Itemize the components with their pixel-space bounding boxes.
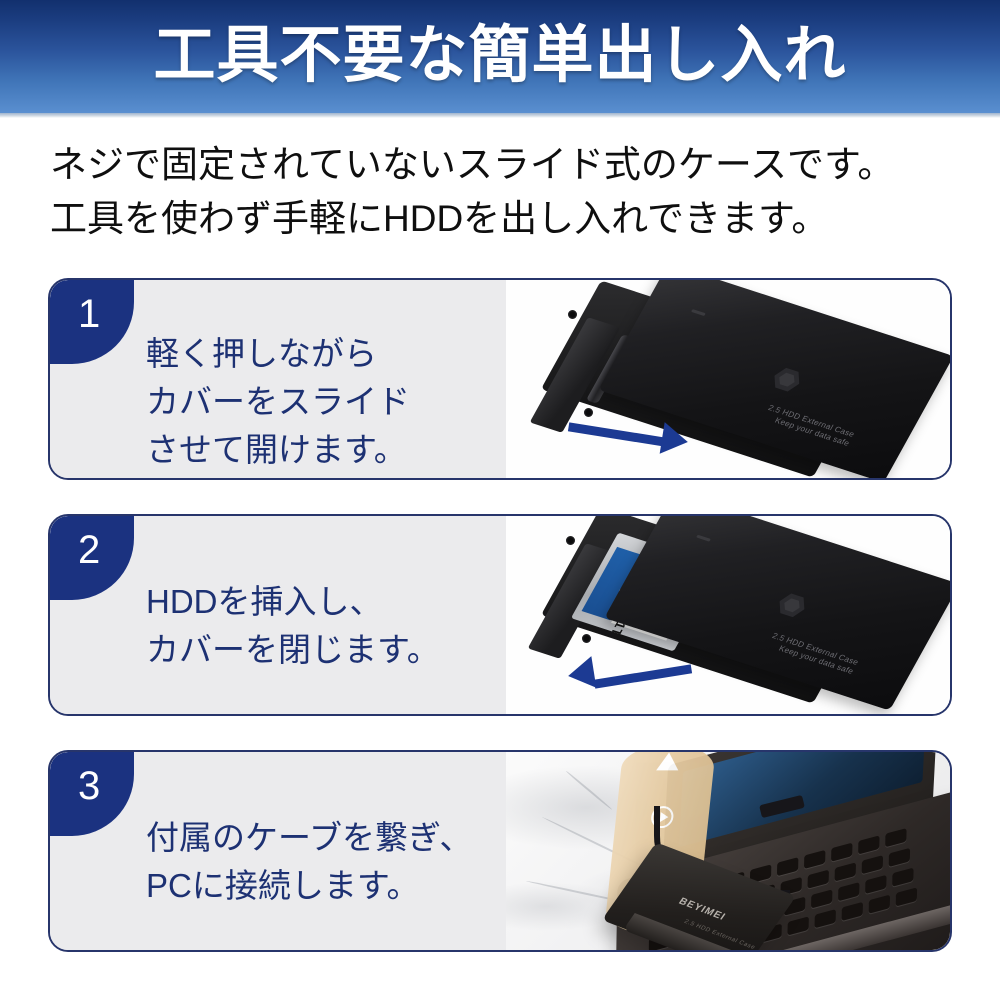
step-2-description: HDDを挿入し、 カバーを閉じます。: [146, 578, 496, 674]
keyboard-key: [814, 909, 835, 928]
tray-screw-top: [568, 310, 577, 319]
step-card-1: 1 軽く押しながら カバーをスライド させて開けます。 2.5 HDD Exte…: [48, 278, 952, 480]
step-3-description: 付属のケーブを繋ぎ、 PCに接続します。: [146, 814, 496, 910]
brand-hex-icon: [769, 365, 806, 394]
step-card-2: 2 HDDを挿入し、 カバーを閉じます。 Western Digital 1TB: [48, 514, 952, 716]
step-3-line-2: PCに接続します。: [146, 862, 496, 910]
keyboard-key: [787, 916, 808, 935]
keyboard-key: [804, 850, 825, 869]
step-2-image: Western Digital 1TB 2.5 HDD External Cas…: [506, 516, 950, 714]
step-2-line-1: HDDを挿入し、: [146, 578, 496, 626]
slide-arrow-right: [568, 422, 666, 446]
keyboard-key: [831, 843, 852, 862]
keyboard-key: [807, 870, 828, 889]
page-title: 工具不要な簡単出し入れ: [0, 10, 1000, 102]
step-1-image: 2.5 HDD External Case Keep your data saf…: [506, 280, 950, 478]
lid-notch: [696, 535, 711, 542]
enclosure-with-drive-illustration: Western Digital 1TB 2.5 HDD External Cas…: [506, 516, 950, 714]
step-3-image: BEYIMEI 2.5 HDD External Case: [506, 752, 950, 950]
slide-arrow-left-head: [566, 656, 597, 692]
step-2-line-2: カバーを閉じます。: [146, 626, 496, 674]
keyboard-key: [842, 902, 863, 921]
step-3-line-1: 付属のケーブを繋ぎ、: [146, 814, 496, 862]
enclosure-illustration: 2.5 HDD External Case Keep your data saf…: [506, 280, 950, 478]
keyboard-key: [889, 848, 910, 867]
marble-vein: [565, 770, 612, 810]
intro-text: ネジで固定されていないスライド式のケースです。 工具を使わず手軽にHDDを出し入…: [50, 138, 950, 246]
slide-arrow-left: [594, 664, 692, 688]
step-1-line-3: させて開けます。: [146, 426, 496, 474]
lid-notch: [691, 309, 706, 316]
keyboard-key: [869, 895, 890, 914]
keyboard-key: [865, 875, 886, 894]
keyboard-key: [896, 887, 917, 906]
keyboard-key: [885, 828, 906, 847]
header-underline: [0, 113, 1000, 118]
tray-screw-top: [566, 536, 575, 545]
intro-line-1: ネジで固定されていないスライド式のケースです。: [50, 138, 950, 192]
slide-arrow-right-head: [660, 422, 691, 458]
play-triangle-icon: [656, 752, 680, 770]
intro-line-2: 工具を使わず手軽にHDDを出し入れできます。: [50, 192, 950, 246]
keyboard-key: [892, 868, 913, 887]
brand-hex-icon: [774, 591, 811, 620]
step-1-description: 軽く押しながら カバーをスライド させて開けます。: [146, 330, 496, 474]
step-1-line-2: カバーをスライド: [146, 378, 496, 426]
tray-screw-bottom: [584, 408, 593, 417]
keyboard-key: [811, 889, 832, 908]
keyboard-key: [835, 862, 856, 881]
step-card-3: 3 付属のケーブを繋ぎ、 PCに接続します。: [48, 750, 952, 952]
keyboard-key: [838, 882, 859, 901]
tray-screw-bottom: [582, 634, 591, 643]
step-1-line-1: 軽く押しながら: [146, 330, 496, 378]
keyboard-key: [858, 835, 879, 854]
keyboard-key: [862, 855, 883, 874]
